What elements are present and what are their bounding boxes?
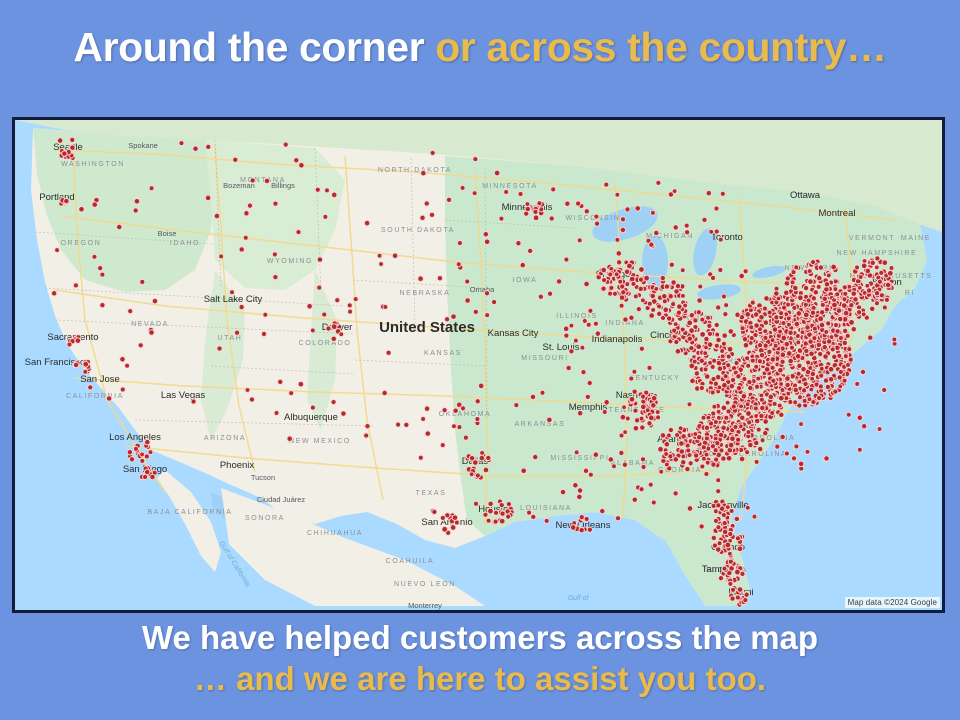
customer-marker[interactable] <box>660 433 665 438</box>
customer-marker[interactable] <box>884 297 889 302</box>
customer-marker[interactable] <box>600 508 605 513</box>
customer-marker[interactable] <box>299 162 305 168</box>
customer-marker[interactable] <box>679 449 685 455</box>
customer-marker[interactable] <box>647 365 652 370</box>
customer-marker[interactable] <box>739 456 745 462</box>
customer-marker[interactable] <box>754 418 760 424</box>
customer-marker[interactable] <box>684 223 689 228</box>
customer-marker[interactable] <box>718 432 723 437</box>
customer-marker[interactable] <box>716 415 721 420</box>
customer-marker[interactable] <box>595 331 600 336</box>
customer-marker[interactable] <box>763 335 768 340</box>
customer-marker[interactable] <box>245 388 250 393</box>
customer-marker[interactable] <box>762 306 767 311</box>
customer-marker[interactable] <box>728 442 734 448</box>
customer-marker[interactable] <box>687 402 692 407</box>
customer-marker[interactable] <box>720 354 725 359</box>
customer-marker[interactable] <box>540 390 545 395</box>
customer-marker[interactable] <box>726 409 731 414</box>
customer-marker[interactable] <box>614 272 619 277</box>
customer-marker[interactable] <box>740 326 745 331</box>
customer-marker[interactable] <box>465 279 470 284</box>
customer-marker[interactable] <box>748 442 754 448</box>
customer-marker[interactable] <box>527 510 532 515</box>
customer-marker[interactable] <box>560 489 565 494</box>
customer-marker[interactable] <box>849 320 855 326</box>
customer-marker[interactable] <box>317 257 323 263</box>
customer-marker[interactable] <box>735 536 740 541</box>
customer-marker[interactable] <box>83 361 89 367</box>
customer-marker[interactable] <box>754 384 759 389</box>
customer-marker[interactable] <box>704 374 710 380</box>
customer-marker[interactable] <box>662 293 667 298</box>
customer-marker[interactable] <box>673 457 678 462</box>
customer-marker[interactable] <box>680 268 685 273</box>
customer-marker[interactable] <box>689 328 695 334</box>
customer-marker[interactable] <box>816 395 821 400</box>
customer-marker[interactable] <box>525 206 530 211</box>
customer-marker[interactable] <box>460 185 465 190</box>
customer-marker[interactable] <box>106 396 111 401</box>
customer-marker[interactable] <box>440 515 445 520</box>
customer-marker[interactable] <box>714 343 719 348</box>
customer-marker[interactable] <box>846 363 851 368</box>
customer-marker[interactable] <box>573 338 578 343</box>
customer-marker[interactable] <box>323 214 328 219</box>
customer-marker[interactable] <box>635 206 641 212</box>
customer-marker[interactable] <box>770 365 775 370</box>
customer-marker[interactable] <box>639 416 644 421</box>
customer-marker[interactable] <box>683 303 688 308</box>
customer-marker[interactable] <box>594 221 599 226</box>
customer-marker[interactable] <box>713 448 718 453</box>
customer-marker[interactable] <box>219 254 224 259</box>
customer-marker[interactable] <box>480 450 485 455</box>
customer-marker[interactable] <box>499 518 505 524</box>
customer-marker[interactable] <box>869 306 874 311</box>
customer-marker[interactable] <box>716 503 721 508</box>
customer-marker[interactable] <box>563 326 569 332</box>
customer-marker[interactable] <box>778 395 784 401</box>
customer-marker[interactable] <box>651 500 656 505</box>
customer-marker[interactable] <box>788 358 794 364</box>
customer-marker[interactable] <box>698 284 703 289</box>
customer-marker[interactable] <box>806 360 811 365</box>
customer-marker[interactable] <box>533 215 539 221</box>
customer-marker[interactable] <box>721 425 726 430</box>
customer-marker[interactable] <box>836 308 842 314</box>
customer-marker[interactable] <box>684 230 689 235</box>
customer-marker[interactable] <box>273 201 278 206</box>
customer-marker[interactable] <box>686 448 691 453</box>
customer-marker[interactable] <box>842 378 847 383</box>
customer-marker[interactable] <box>133 446 138 451</box>
customer-marker[interactable] <box>234 330 239 335</box>
customer-marker[interactable] <box>781 321 786 326</box>
customer-marker[interactable] <box>694 371 699 376</box>
customer-marker[interactable] <box>317 285 322 290</box>
customer-marker[interactable] <box>877 279 882 284</box>
customer-marker[interactable] <box>442 408 447 413</box>
customer-marker[interactable] <box>483 512 488 517</box>
customer-marker[interactable] <box>116 224 122 230</box>
customer-marker[interactable] <box>728 531 733 536</box>
customer-marker[interactable] <box>678 426 683 431</box>
customer-marker[interactable] <box>689 345 694 350</box>
customer-marker[interactable] <box>726 354 731 359</box>
customer-marker[interactable] <box>759 413 764 418</box>
customer-marker[interactable] <box>620 227 626 233</box>
customer-marker[interactable] <box>730 436 736 442</box>
customer-marker[interactable] <box>875 301 880 306</box>
customer-marker[interactable] <box>584 209 589 214</box>
customer-marker[interactable] <box>833 287 838 292</box>
customer-marker[interactable] <box>692 359 697 364</box>
customer-marker[interactable] <box>348 309 353 314</box>
customer-marker[interactable] <box>699 358 704 363</box>
customer-marker[interactable] <box>674 289 679 294</box>
customer-marker[interactable] <box>418 455 423 460</box>
customer-marker[interactable] <box>648 415 654 421</box>
customer-marker[interactable] <box>706 315 711 320</box>
customer-marker[interactable] <box>779 382 784 387</box>
customer-marker[interactable] <box>499 216 504 221</box>
customer-marker[interactable] <box>811 399 816 404</box>
customer-marker[interactable] <box>889 266 894 271</box>
customer-marker[interactable] <box>743 269 748 274</box>
customer-marker[interactable] <box>754 459 759 464</box>
customer-marker[interactable] <box>831 264 837 270</box>
customer-marker[interactable] <box>432 509 437 514</box>
customer-marker[interactable] <box>842 297 847 302</box>
customer-marker[interactable] <box>802 398 807 403</box>
customer-marker[interactable] <box>272 252 277 257</box>
customer-marker[interactable] <box>364 220 369 225</box>
customer-marker[interactable] <box>493 510 498 515</box>
customer-marker[interactable] <box>574 450 579 455</box>
customer-marker[interactable] <box>404 422 409 427</box>
customer-marker[interactable] <box>570 525 576 531</box>
customer-marker[interactable] <box>737 587 743 593</box>
customer-marker[interactable] <box>708 421 713 426</box>
customer-marker[interactable] <box>679 441 685 447</box>
customer-marker[interactable] <box>877 427 882 432</box>
customer-marker[interactable] <box>820 310 825 315</box>
customer-marker[interactable] <box>816 284 821 289</box>
customer-marker[interactable] <box>885 282 891 288</box>
customer-marker[interactable] <box>608 457 613 462</box>
customer-marker[interactable] <box>833 279 838 284</box>
customer-marker[interactable] <box>713 518 718 523</box>
customer-marker[interactable] <box>671 280 676 285</box>
customer-marker[interactable] <box>725 542 731 548</box>
customer-marker[interactable] <box>693 318 698 323</box>
customer-marker[interactable] <box>473 157 478 162</box>
customer-marker[interactable] <box>860 369 865 374</box>
customer-marker[interactable] <box>51 291 56 296</box>
customer-marker[interactable] <box>875 256 880 261</box>
customer-marker[interactable] <box>724 415 729 420</box>
customer-marker[interactable] <box>700 464 705 469</box>
customer-marker[interactable] <box>662 299 667 304</box>
customer-marker[interactable] <box>824 282 830 288</box>
customer-marker[interactable] <box>857 447 862 452</box>
customer-marker[interactable] <box>264 178 269 183</box>
customer-marker[interactable] <box>672 328 677 333</box>
customer-marker[interactable] <box>619 433 624 438</box>
customer-marker[interactable] <box>564 333 569 338</box>
customer-marker[interactable] <box>440 443 445 448</box>
customer-marker[interactable] <box>746 430 751 435</box>
customer-marker[interactable] <box>261 331 266 336</box>
customer-marker[interactable] <box>722 566 727 571</box>
customer-marker[interactable] <box>805 449 810 454</box>
customer-marker[interactable] <box>150 474 155 479</box>
customer-marker[interactable] <box>639 267 645 273</box>
customer-marker[interactable] <box>250 178 255 183</box>
customer-marker[interactable] <box>770 338 775 343</box>
customer-marker[interactable] <box>809 351 815 357</box>
customer-marker[interactable] <box>442 526 448 532</box>
customer-marker[interactable] <box>446 197 451 202</box>
customer-marker[interactable] <box>666 316 671 321</box>
customer-marker[interactable] <box>664 441 670 447</box>
customer-marker[interactable] <box>721 512 726 517</box>
customer-marker[interactable] <box>717 541 722 546</box>
customer-marker[interactable] <box>549 216 554 221</box>
customer-marker[interactable] <box>803 381 808 386</box>
customer-marker[interactable] <box>807 269 812 274</box>
customer-marker[interactable] <box>785 376 791 382</box>
customer-marker[interactable] <box>632 497 637 502</box>
customer-marker[interactable] <box>247 203 252 208</box>
customer-marker[interactable] <box>835 329 840 334</box>
customer-marker[interactable] <box>757 446 763 452</box>
customer-marker[interactable] <box>239 247 244 252</box>
customer-marker[interactable] <box>120 356 125 361</box>
customer-marker[interactable] <box>743 342 749 348</box>
customer-marker[interactable] <box>838 369 843 374</box>
customer-marker[interactable] <box>382 390 387 395</box>
customer-marker[interactable] <box>781 335 787 341</box>
customer-marker[interactable] <box>699 524 704 529</box>
customer-marker[interactable] <box>745 402 750 407</box>
customer-marker[interactable] <box>453 408 458 413</box>
customer-marker[interactable] <box>364 433 369 438</box>
customer-marker[interactable] <box>629 376 634 381</box>
customer-marker[interactable] <box>716 409 721 414</box>
customer-marker[interactable] <box>685 466 690 471</box>
customer-marker[interactable] <box>808 365 813 370</box>
customer-marker[interactable] <box>73 362 78 367</box>
customer-marker[interactable] <box>475 399 480 404</box>
customer-marker[interactable] <box>144 454 149 459</box>
customer-marker[interactable] <box>654 286 659 291</box>
customer-marker[interactable] <box>623 317 628 322</box>
customer-marker[interactable] <box>733 424 738 429</box>
customer-marker[interactable] <box>702 217 707 222</box>
customer-marker[interactable] <box>639 346 644 351</box>
customer-marker[interactable] <box>848 357 853 362</box>
customer-marker[interactable] <box>486 518 491 523</box>
customer-marker[interactable] <box>710 390 715 395</box>
customer-marker[interactable] <box>651 395 657 401</box>
customer-marker[interactable] <box>602 409 607 414</box>
customer-marker[interactable] <box>716 305 721 310</box>
customer-marker[interactable] <box>298 381 304 387</box>
customer-marker[interactable] <box>331 192 337 198</box>
customer-marker[interactable] <box>697 298 703 304</box>
customer-marker[interactable] <box>619 450 624 455</box>
customer-marker[interactable] <box>658 446 664 452</box>
customer-marker[interactable] <box>587 380 592 385</box>
customer-marker[interactable] <box>584 516 589 521</box>
customer-marker[interactable] <box>145 439 150 444</box>
customer-marker[interactable] <box>722 382 728 388</box>
customer-marker[interactable] <box>263 312 268 317</box>
customer-marker[interactable] <box>430 150 435 155</box>
customer-marker[interactable] <box>714 229 719 234</box>
customer-marker[interactable] <box>656 415 661 420</box>
customer-marker[interactable] <box>803 312 809 318</box>
customer-marker[interactable] <box>824 330 829 335</box>
customer-marker[interactable] <box>520 262 526 267</box>
customer-marker[interactable] <box>794 265 799 270</box>
customer-marker[interactable] <box>723 312 728 317</box>
customer-marker[interactable] <box>760 438 765 443</box>
customer-marker[interactable] <box>538 294 543 299</box>
customer-marker[interactable] <box>780 359 785 364</box>
customer-marker[interactable] <box>779 412 784 417</box>
customer-marker[interactable] <box>786 316 791 321</box>
customer-marker[interactable] <box>673 322 678 327</box>
customer-marker[interactable] <box>687 320 693 326</box>
customer-marker[interactable] <box>719 448 724 453</box>
customer-marker[interactable] <box>457 240 462 245</box>
customer-marker[interactable] <box>629 315 634 320</box>
customer-marker[interactable] <box>805 325 810 330</box>
customer-marker[interactable] <box>593 452 599 458</box>
customer-marker[interactable] <box>780 352 786 358</box>
customer-marker[interactable] <box>796 311 802 317</box>
customer-marker[interactable] <box>784 281 790 287</box>
customer-marker[interactable] <box>473 309 478 314</box>
customer-marker[interactable] <box>604 182 609 187</box>
customer-marker[interactable] <box>750 358 755 363</box>
customer-marker[interactable] <box>140 452 145 457</box>
customer-marker[interactable] <box>811 296 816 301</box>
customer-marker[interactable] <box>627 263 633 269</box>
customer-marker[interactable] <box>506 502 511 507</box>
customer-marker[interactable] <box>506 514 511 519</box>
customer-marker[interactable] <box>717 366 723 372</box>
customer-marker[interactable] <box>819 322 825 328</box>
customer-marker[interactable] <box>659 469 664 474</box>
customer-marker[interactable] <box>620 414 626 420</box>
customer-marker[interactable] <box>830 347 835 352</box>
customer-marker[interactable] <box>862 291 867 296</box>
customer-marker[interactable] <box>714 457 719 462</box>
customer-marker[interactable] <box>767 349 772 354</box>
customer-marker[interactable] <box>816 342 821 347</box>
customer-marker[interactable] <box>731 404 736 409</box>
customer-marker[interactable] <box>701 415 706 420</box>
customer-marker[interactable] <box>764 296 770 302</box>
customer-marker[interactable] <box>723 374 728 379</box>
customer-marker[interactable] <box>818 384 823 389</box>
customer-marker[interactable] <box>239 304 244 309</box>
customer-marker[interactable] <box>778 329 783 334</box>
customer-marker[interactable] <box>144 469 149 474</box>
customer-marker[interactable] <box>855 265 860 270</box>
customer-marker[interactable] <box>619 295 625 301</box>
customer-marker[interactable] <box>622 405 627 410</box>
customer-marker[interactable] <box>644 275 650 281</box>
customer-marker[interactable] <box>638 277 643 282</box>
customer-marker[interactable] <box>837 316 842 321</box>
customer-marker[interactable] <box>745 505 750 510</box>
customer-marker[interactable] <box>521 468 527 474</box>
customer-marker[interactable] <box>737 546 743 552</box>
customer-marker[interactable] <box>700 317 705 322</box>
customer-marker[interactable] <box>396 422 401 427</box>
customer-marker[interactable] <box>341 411 346 416</box>
customer-marker[interactable] <box>386 350 391 355</box>
customer-marker[interactable] <box>475 473 480 478</box>
customer-marker[interactable] <box>484 291 489 296</box>
customer-marker[interactable] <box>331 336 336 341</box>
customer-marker[interactable] <box>100 272 105 277</box>
customer-marker[interactable] <box>746 363 751 368</box>
map-container[interactable]: WASHINGTONOREGONIDAHOMONTANANORTH DAKOTA… <box>12 117 945 613</box>
customer-marker[interactable] <box>675 349 681 355</box>
customer-marker[interactable] <box>310 405 315 410</box>
customer-marker[interactable] <box>797 395 802 400</box>
customer-marker[interactable] <box>716 525 721 530</box>
customer-marker[interactable] <box>588 472 593 477</box>
customer-marker[interactable] <box>331 324 337 330</box>
customer-marker[interactable] <box>800 330 805 335</box>
customer-marker[interactable] <box>129 457 134 462</box>
customer-marker[interactable] <box>842 328 847 333</box>
customer-marker[interactable] <box>649 313 655 319</box>
customer-marker[interactable] <box>744 592 749 597</box>
customer-marker[interactable] <box>801 366 806 371</box>
customer-marker[interactable] <box>714 322 719 327</box>
customer-marker[interactable] <box>668 454 673 459</box>
customer-marker[interactable] <box>818 316 824 322</box>
customer-marker[interactable] <box>556 279 561 284</box>
customer-marker[interactable] <box>249 397 254 402</box>
customer-marker[interactable] <box>365 424 370 429</box>
customer-marker[interactable] <box>347 303 352 308</box>
customer-marker[interactable] <box>424 406 429 411</box>
customer-marker[interactable] <box>581 369 586 374</box>
customer-marker[interactable] <box>845 333 850 338</box>
customer-marker[interactable] <box>837 353 842 358</box>
customer-marker[interactable] <box>778 367 784 373</box>
customer-marker[interactable] <box>775 444 780 449</box>
customer-marker[interactable] <box>677 304 683 310</box>
customer-marker[interactable] <box>754 440 759 445</box>
customer-marker[interactable] <box>870 260 875 265</box>
customer-marker[interactable] <box>633 294 638 299</box>
customer-marker[interactable] <box>770 410 775 415</box>
customer-marker[interactable] <box>421 417 426 422</box>
customer-marker[interactable] <box>715 332 720 337</box>
customer-marker[interactable] <box>206 144 211 149</box>
customer-marker[interactable] <box>680 293 685 298</box>
